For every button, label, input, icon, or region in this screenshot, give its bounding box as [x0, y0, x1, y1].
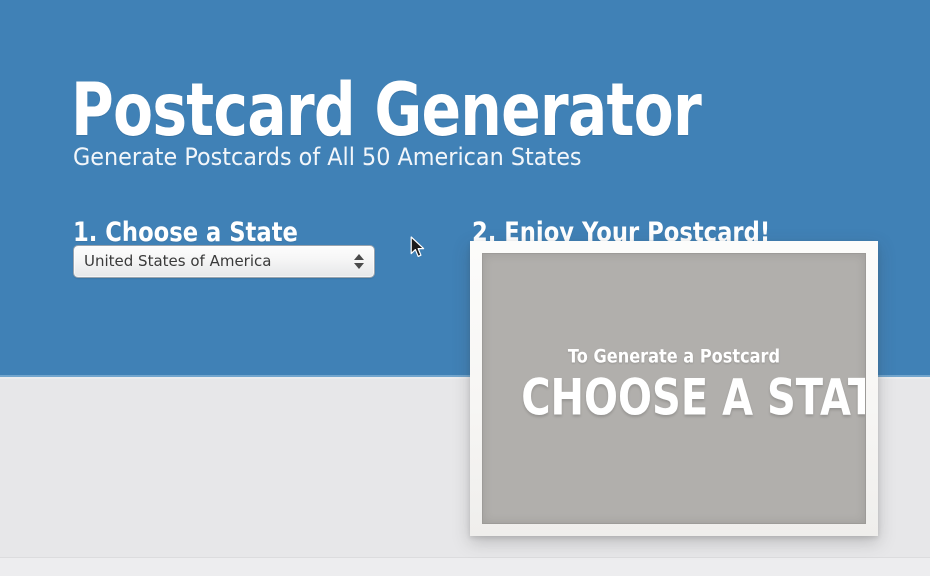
postcard-placeholder-line-2: CHOOSE A STATE [521, 368, 827, 426]
postcard-placeholder-line-1: To Generate a Postcard [512, 344, 837, 368]
page-subtitle: Generate Postcards of All 50 American St… [73, 142, 582, 172]
postcard-placeholder-text: To Generate a Postcard CHOOSE A STATE [483, 344, 865, 426]
postcard-frame[interactable]: To Generate a Postcard CHOOSE A STATE [470, 241, 878, 536]
footer-band [0, 558, 930, 576]
state-select-container[interactable]: United States of AmericaAlabamaAlaskaAri… [73, 245, 375, 278]
page-root: Postcard Generator Generate Postcards of… [0, 0, 930, 576]
state-select[interactable]: United States of AmericaAlabamaAlaskaAri… [73, 245, 375, 278]
postcard-canvas: To Generate a Postcard CHOOSE A STATE [482, 253, 866, 524]
